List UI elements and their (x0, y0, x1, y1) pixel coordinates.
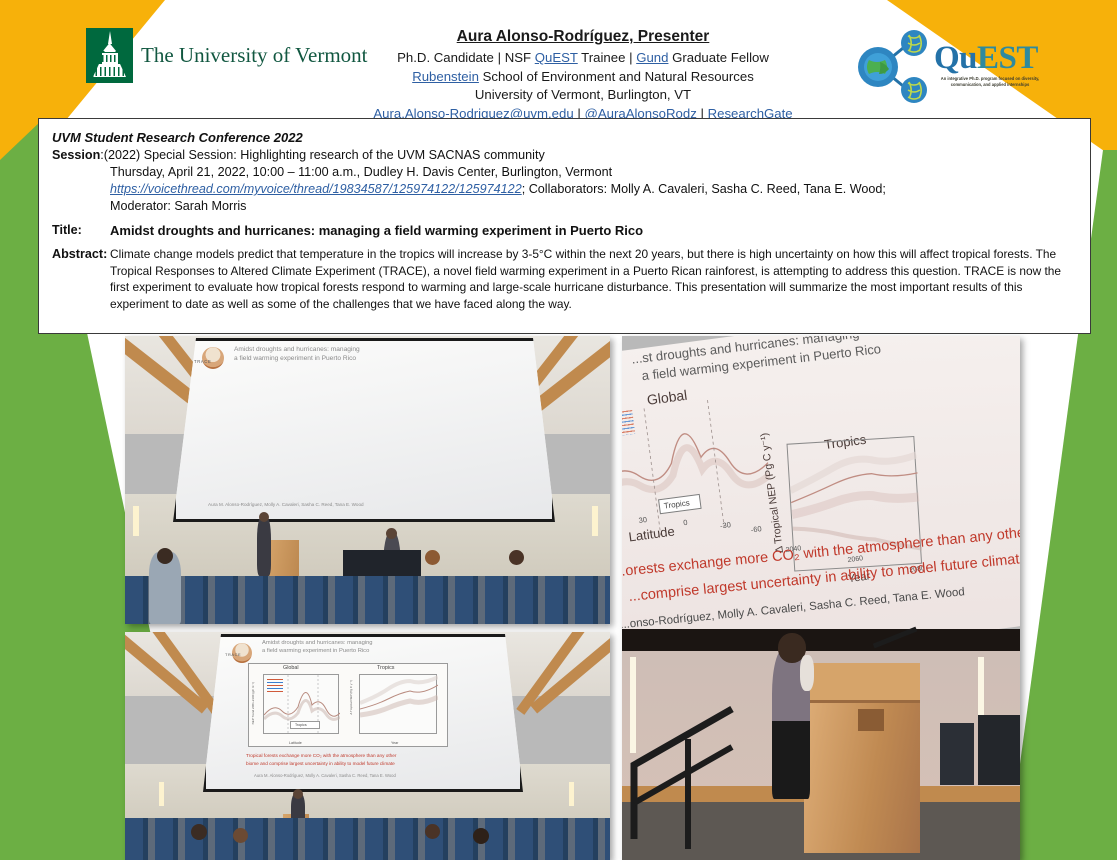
presenter-head (293, 789, 303, 799)
projection-screen: TRACE Amidst droughts and hurricanes: ma… (173, 338, 555, 522)
trace-logo-icon (202, 347, 224, 369)
abstract-label: Abstract: (52, 246, 110, 312)
attendee-head (386, 528, 397, 539)
sep-1: | (498, 50, 501, 65)
school-line: Rubenstein School of Environment and Nat… (348, 68, 818, 87)
wall-sconce (569, 782, 574, 806)
session-datetime: Thursday, April 21, 2022, 10:00 – 11:00 … (52, 164, 1077, 181)
conference-hall-title-slide-photo: TRACE Amidst droughts and hurricanes: ma… (125, 336, 610, 624)
chart-global-axes: Tropics (263, 674, 339, 734)
audience-head (233, 828, 248, 843)
stacked-chair (978, 715, 1020, 785)
chart-right-ylabel: Δ Tropical NEP (Pg C y⁻¹) (349, 680, 353, 715)
projected-slide-closeup: ...st droughts and hurricanes: managing … (622, 336, 1020, 678)
chart-right-title: Tropics (377, 665, 394, 671)
stage-area (622, 629, 1020, 860)
quest-tagline: An integrative Ph.D. program focused on … (940, 76, 1040, 88)
session-label: Session (52, 147, 100, 164)
quest-wordmark: QuEST (934, 40, 1038, 77)
presenter-figure (257, 514, 271, 576)
quest-qu: Qu (934, 40, 977, 76)
rubenstein-link[interactable]: Rubenstein (412, 69, 479, 84)
role-phd: Ph.D. Candidate (397, 50, 494, 65)
slide-title-line2: a field warming experiment in Puerto Ric… (262, 648, 369, 654)
presenter-name: Aura Alonso-Rodríguez, Presenter (348, 26, 818, 49)
voicethread-link[interactable]: https://voicethread.com/myvoice/thread/1… (110, 182, 522, 196)
presentation-title: Amidst droughts and hurricanes: managing… (110, 222, 643, 239)
uvm-tower-icon (86, 28, 133, 83)
slide-red-line2: biome and comprise largest uncertainty i… (246, 761, 395, 766)
audience-head (425, 550, 440, 565)
chart-left-tick-m30: -30 (720, 520, 732, 530)
session-row: Session: (2022) Special Session: Highlig… (52, 147, 1077, 164)
session-value: (2022) Special Session: Highlighting res… (104, 147, 545, 164)
quest-link[interactable]: QuEST (535, 50, 578, 65)
presenter-head (259, 512, 269, 522)
session-moderator: Moderator: Sarah Morris (52, 198, 1077, 215)
chart-inset-label: Tropics (295, 723, 307, 727)
chart-inset-label: Tropics (664, 498, 691, 510)
slide-red-line1: Tropical forests exchange more CO₂ with … (246, 753, 396, 758)
role-gund-post: Graduate Fellow (668, 50, 768, 65)
chart-tropics-axes (359, 674, 437, 734)
podium-emblem (858, 709, 884, 731)
chart-inset-box: Tropics (290, 721, 320, 729)
chart-tropics-curves (360, 675, 438, 735)
trace-label: TRACE (225, 652, 241, 657)
university-line: University of Vermont, Burlington, VT (348, 86, 818, 105)
slide-title-line1: Amidst droughts and hurricanes: managing (234, 346, 360, 353)
audience-head (425, 824, 440, 839)
poster-canvas: The University of Vermont Aura Alonso-Ro… (0, 0, 1117, 860)
audience-head (191, 824, 207, 840)
stacked-chair (940, 723, 974, 785)
trace-label: TRACE (194, 359, 211, 364)
podium-top (804, 663, 920, 703)
abstract-text: Climate change models predict that tempe… (110, 246, 1077, 312)
chart-left-tick-30: 30 (638, 515, 647, 525)
slide-authors: Aura M. Alonso-Rodríguez, Molly A. Caval… (208, 502, 364, 507)
screen-bottom-bar (622, 629, 1020, 651)
quest-est: EST (977, 40, 1038, 76)
chart-left-title: Global (283, 665, 299, 671)
conference-title: UVM Student Research Conference 2022 (52, 129, 1077, 146)
wall-sconce (592, 506, 598, 536)
gund-link[interactable]: Gund (636, 50, 668, 65)
wall-sconce (159, 782, 164, 806)
school-rest: School of Environment and Natural Resour… (479, 69, 754, 84)
audience-head (157, 548, 173, 564)
chart-left-tick-m60: -60 (750, 524, 762, 534)
abstract-row: Abstract: Climate change models predict … (52, 246, 1077, 312)
quest-logo: QuEST An integrative Ph.D. program focus… (856, 26, 1036, 104)
title-row: Title: Amidst droughts and hurricanes: m… (52, 222, 1077, 239)
role-nsf-post: Trainee (578, 50, 626, 65)
audience-head (473, 828, 489, 844)
quest-molecule-icon (856, 30, 934, 104)
chart-right-xlabel: Year (391, 741, 398, 745)
slide-figure-panel: Global Tropics Tropics NEP Trend 2081-21… (248, 663, 448, 747)
conference-hall-data-slide-photo: TRACE Amidst droughts and hurricanes: ma… (125, 632, 610, 860)
audience-seating (125, 576, 610, 624)
presenter-scarf (800, 655, 814, 691)
sep-2: | (629, 50, 632, 65)
slide-title-line1: Amidst droughts and hurricanes: managing (262, 640, 373, 646)
title-label: Title: (52, 222, 110, 239)
session-link-row: https://voicethread.com/myvoice/thread/1… (52, 181, 1077, 198)
slide-authors: Aura M. Alonso-Rodríguez, Molly A. Caval… (254, 773, 396, 778)
chart-left-xlabel: Latitude (289, 741, 302, 745)
presenter-at-podium-photo: ...st droughts and hurricanes: managing … (622, 336, 1020, 860)
presenter-info-block: Aura Alonso-Rodríguez, Presenter Ph.D. C… (348, 26, 818, 124)
collaborators-text: ; Collaborators: Molly A. Cavaleri, Sash… (522, 182, 886, 196)
chart-legend (267, 679, 283, 693)
stair-railing (628, 699, 748, 849)
slide-title-line2: a field warming experiment in Puerto Ric… (234, 355, 356, 362)
poster-header: The University of Vermont Aura Alonso-Ro… (38, 8, 1091, 116)
chart-left-ylabel: NEP Trend 2081-2100 (gC m⁻²) (251, 682, 255, 724)
session-info-card: UVM Student Research Conference 2022 Ses… (38, 118, 1091, 334)
audience-head (509, 550, 524, 565)
presenter-roles-line: Ph.D. Candidate | NSF QuEST Trainee | Gu… (348, 49, 818, 68)
podium (804, 663, 920, 853)
uvm-wordmark: The University of Vermont (141, 43, 368, 68)
uvm-logo: The University of Vermont (86, 28, 368, 83)
projection-screen: TRACE Amidst droughts and hurricanes: ma… (203, 634, 523, 792)
role-nsf-pre: NSF (505, 50, 535, 65)
wall-sconce (133, 506, 139, 536)
